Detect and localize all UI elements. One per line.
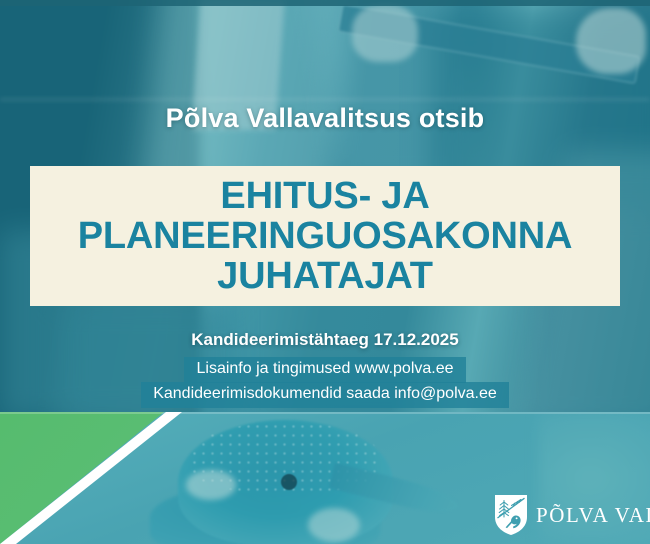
job-title-banner: EHITUS- JA PLANEERINGUOSAKONNA JUHATAJAT — [30, 166, 620, 306]
kingfisher-throat-patch — [308, 508, 360, 542]
info-lines: Lisainfo ja tingimused www.polva.ee Kand… — [0, 357, 650, 408]
application-deadline: Kandideerimistähtaeg 17.12.2025 — [0, 330, 650, 350]
kingfisher-eye — [281, 474, 297, 490]
section-divider-rule — [0, 412, 650, 414]
polva-vald-logo: PÕLVA VALD — [495, 495, 650, 535]
poster-kicker: Põlva Vallavalitsus otsib — [0, 103, 650, 134]
info-line-email: Kandideerimisdokumendid saada info@polva… — [141, 382, 509, 408]
photo-hand-left — [352, 4, 418, 62]
info-line-website: Lisainfo ja tingimused www.polva.ee — [184, 357, 465, 383]
logo-wordmark: PÕLVA VALD — [536, 505, 650, 526]
coat-of-arms-shield-icon — [495, 495, 527, 535]
job-title: EHITUS- JA PLANEERINGUOSAKONNA JUHATAJAT — [30, 176, 620, 297]
photo-hand-right — [576, 8, 646, 74]
top-edge-strip — [0, 0, 650, 6]
kingfisher-cheek-patch — [186, 470, 236, 500]
photo-highlight-line — [0, 98, 650, 101]
job-advert-poster: Põlva Vallavalitsus otsib EHITUS- JA PLA… — [0, 0, 650, 544]
